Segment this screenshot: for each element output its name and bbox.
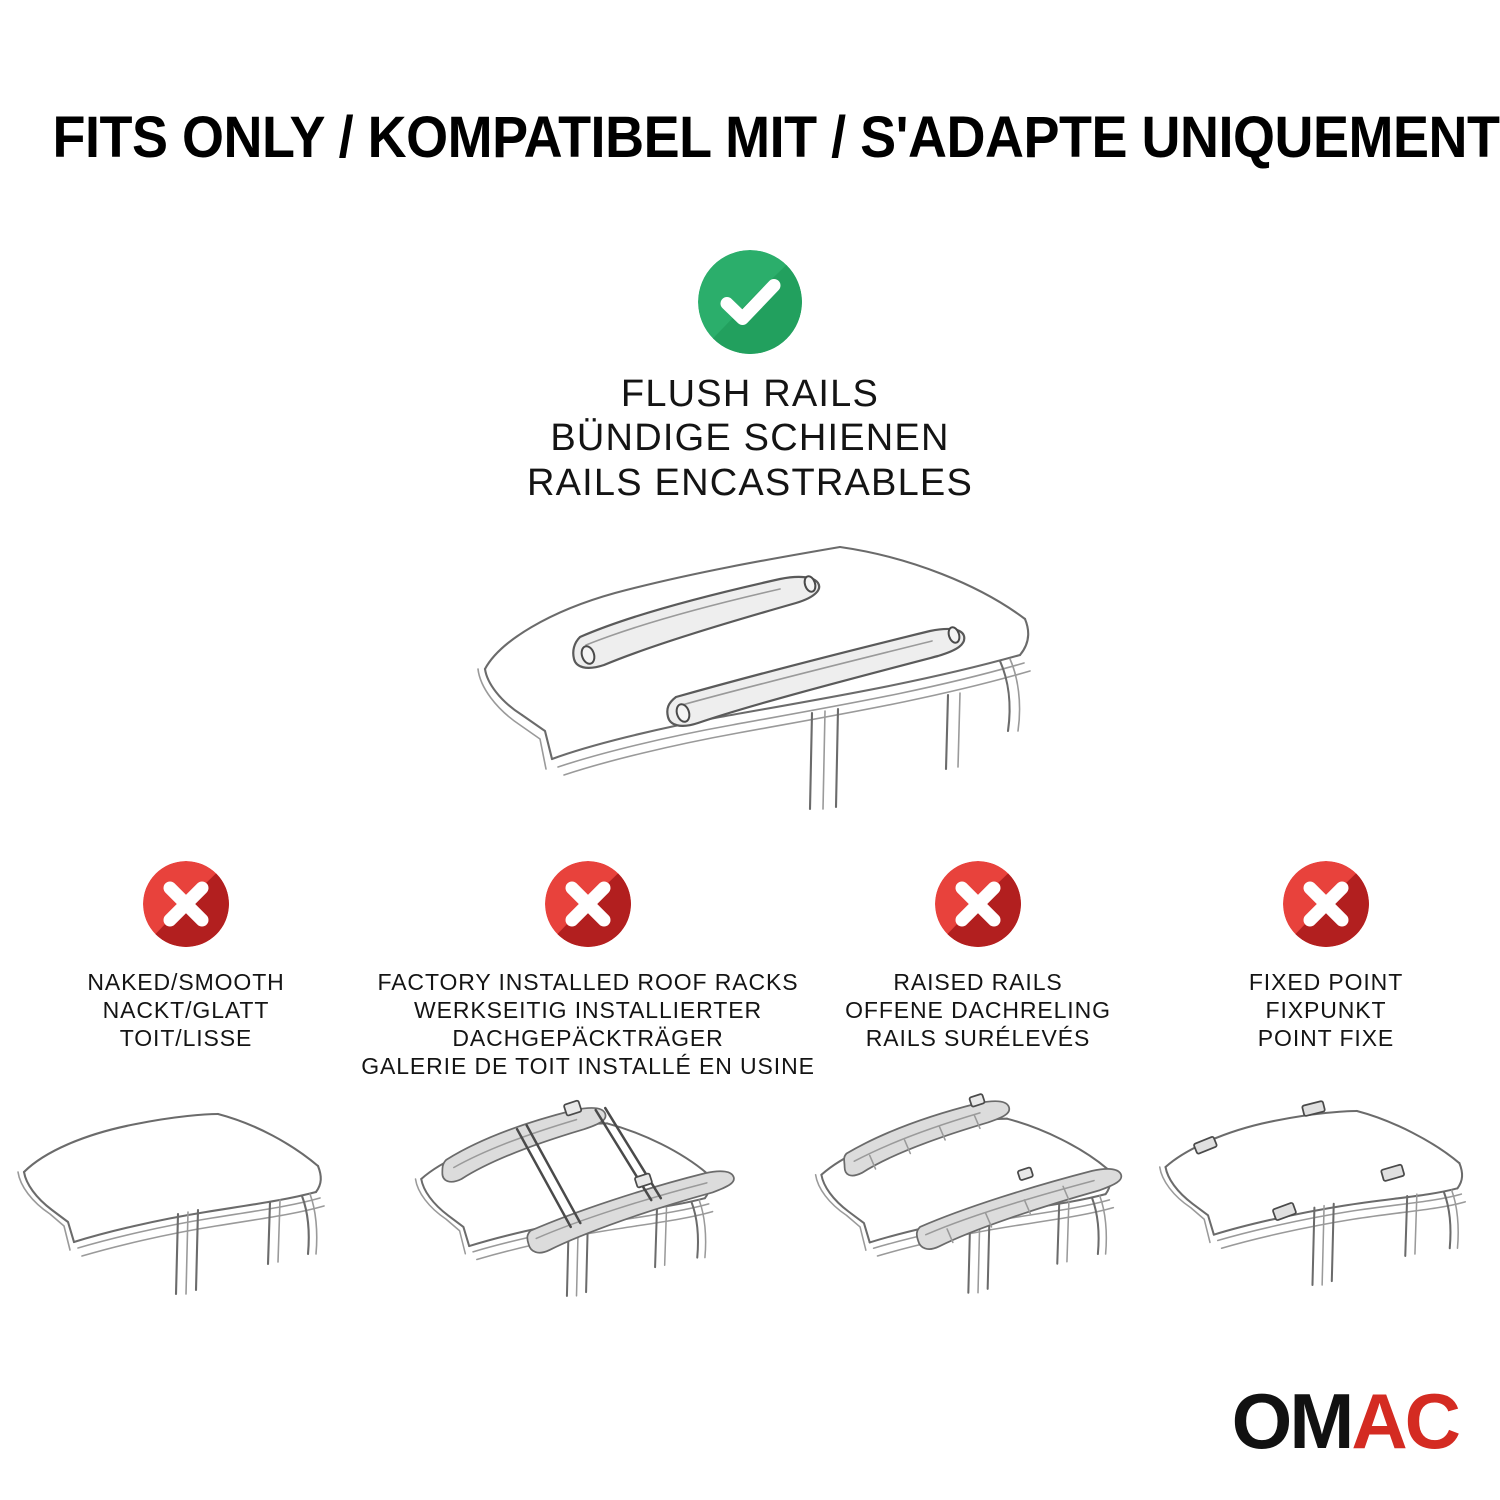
- label-de: NACKT/GLATT: [87, 996, 284, 1024]
- incompatible-labels: FIXED POINT FIXPUNKT POINT FIXE: [1249, 968, 1403, 1052]
- logo-text-black: OM: [1232, 1382, 1352, 1460]
- label-fr: RAILS SURÉLEVÉS: [845, 1024, 1111, 1052]
- car-roof-fixed-point-illustration: [1152, 1082, 1500, 1312]
- compatible-label-de: BÜNDIGE SCHIENEN: [527, 416, 973, 460]
- car-roof-raised-rails-illustration: [804, 1082, 1152, 1312]
- incompatible-labels: RAISED RAILS OFFENE DACHRELING RAILS SUR…: [845, 968, 1111, 1052]
- label-fr: TOIT/LISSE: [87, 1024, 284, 1052]
- label-en: NAKED/SMOOTH: [87, 968, 284, 996]
- x-circle-icon: [143, 861, 229, 947]
- incompatible-item-factory-roof-racks: FACTORY INSTALLED ROOF RACKS WERKSEITIG …: [372, 852, 804, 1317]
- incompatible-item-naked-smooth: NAKED/SMOOTH NACKT/GLATT TOIT/LISSE: [0, 852, 372, 1312]
- label-fr: POINT FIXE: [1249, 1024, 1403, 1052]
- car-roof-factory-roof-racks-illustration: [372, 1087, 804, 1317]
- car-roof-flush-rails-illustration: [440, 519, 1060, 819]
- incompatible-labels: NAKED/SMOOTH NACKT/GLATT TOIT/LISSE: [87, 968, 284, 1052]
- incompatible-item-fixed-point: FIXED POINT FIXPUNKT POINT FIXE: [1152, 852, 1500, 1312]
- label-en: FACTORY INSTALLED ROOF RACKS: [361, 968, 815, 996]
- incompatible-labels: FACTORY INSTALLED ROOF RACKS WERKSEITIG …: [361, 968, 815, 1080]
- label-de-2: DACHGEPÄCKTRÄGER: [361, 1024, 815, 1052]
- logo-text-red: AC: [1351, 1382, 1458, 1460]
- label-fr: GALERIE DE TOIT INSTALLÉ EN USINE: [361, 1052, 815, 1080]
- compatible-label-en: FLUSH RAILS: [527, 372, 973, 416]
- x-circle-icon: [545, 861, 631, 947]
- incompatible-item-raised-rails: RAISED RAILS OFFENE DACHRELING RAILS SUR…: [804, 852, 1152, 1312]
- label-en: FIXED POINT: [1249, 968, 1403, 996]
- label-de: OFFENE DACHRELING: [845, 996, 1111, 1024]
- x-circle-icon: [935, 861, 1021, 947]
- car-roof-naked-smooth-illustration: [0, 1082, 372, 1312]
- page-title: FITS ONLY / KOMPATIBEL MIT / S'ADAPTE UN…: [53, 104, 1448, 171]
- label-de-1: WERKSEITIG INSTALLIERTER: [361, 996, 815, 1024]
- compatible-section: FLUSH RAILS BÜNDIGE SCHIENEN RAILS ENCAS…: [0, 250, 1500, 819]
- incompatible-section: NAKED/SMOOTH NACKT/GLATT TOIT/LISSE: [0, 852, 1500, 1317]
- x-circle-icon: [1283, 861, 1369, 947]
- compatible-label-fr: RAILS ENCASTRABLES: [527, 461, 973, 505]
- label-de: FIXPUNKT: [1249, 996, 1403, 1024]
- omac-logo: OMAC: [1232, 1382, 1458, 1460]
- check-circle-icon: [698, 250, 802, 354]
- label-en: RAISED RAILS: [845, 968, 1111, 996]
- compatible-labels: FLUSH RAILS BÜNDIGE SCHIENEN RAILS ENCAS…: [527, 372, 973, 505]
